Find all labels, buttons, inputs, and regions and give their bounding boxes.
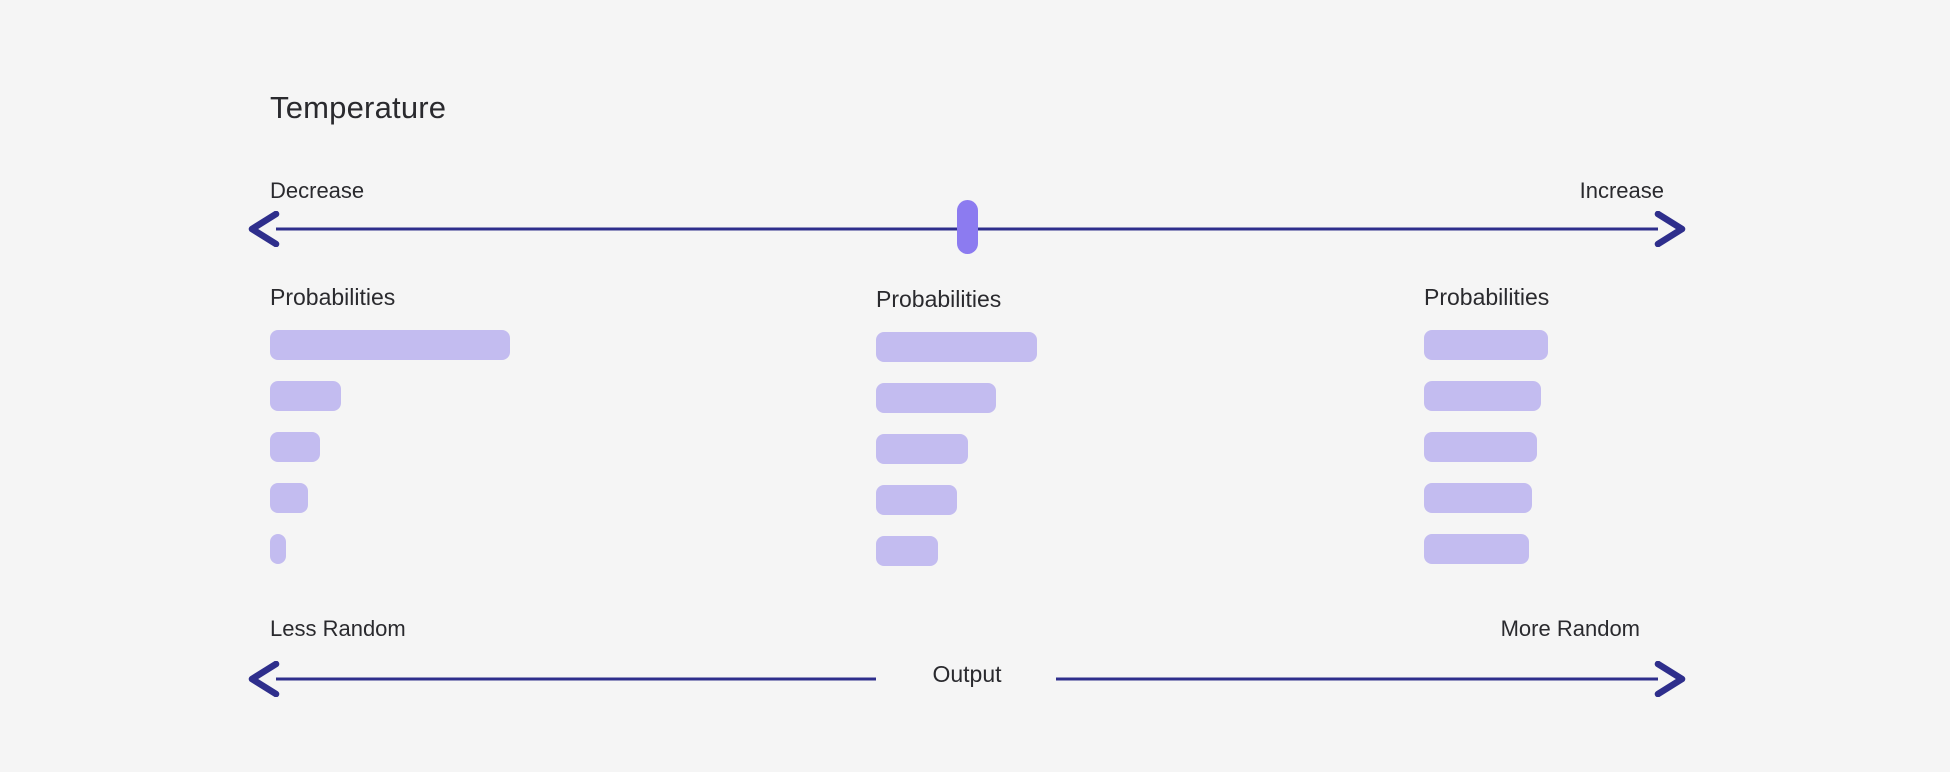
- bar-row: [876, 383, 1037, 434]
- probability-bar: [270, 483, 308, 513]
- bar-list: [270, 330, 510, 585]
- probabilities-column-medium: Probabilities: [876, 288, 1037, 587]
- bar-row: [1424, 381, 1549, 432]
- probability-bar: [876, 485, 957, 515]
- probabilities-column-low: Probabilities: [270, 286, 510, 585]
- bar-row: [1424, 483, 1549, 534]
- temperature-slider-handle[interactable]: [957, 200, 978, 254]
- probabilities-heading: Probabilities: [270, 286, 510, 309]
- probability-bar: [270, 381, 341, 411]
- bar-row: [1424, 534, 1549, 585]
- temperature-increase-label: Increase: [1580, 178, 1664, 204]
- probability-bar: [876, 332, 1037, 362]
- bar-list: [876, 332, 1037, 587]
- probability-bar: [1424, 483, 1532, 513]
- output-axis-line: [258, 664, 1676, 694]
- probabilities-heading: Probabilities: [876, 288, 1037, 311]
- probability-bar: [876, 536, 938, 566]
- output-less-random-label: Less Random: [270, 616, 406, 642]
- bar-row: [876, 332, 1037, 383]
- probabilities-column-high: Probabilities: [1424, 286, 1549, 585]
- bar-list: [1424, 330, 1549, 585]
- bar-row: [876, 536, 1037, 587]
- probability-bar: [270, 432, 320, 462]
- bar-row: [270, 381, 510, 432]
- page-title: Temperature: [270, 90, 446, 126]
- bar-row: [270, 483, 510, 534]
- probability-bar: [1424, 381, 1541, 411]
- temperature-axis: Decrease Increase: [270, 178, 1664, 258]
- probability-bar: [876, 434, 968, 464]
- bar-row: [876, 434, 1037, 485]
- probability-bar: [270, 534, 286, 564]
- output-more-random-label: More Random: [1501, 616, 1640, 642]
- temperature-decrease-label: Decrease: [270, 178, 364, 204]
- output-axis: Less Random More Random Output: [270, 616, 1664, 706]
- probability-bar: [1424, 432, 1537, 462]
- diagram-canvas: Temperature Decrease Increase Probabilit…: [0, 0, 1950, 772]
- probability-bar: [270, 330, 510, 360]
- bar-row: [270, 432, 510, 483]
- probability-bar: [1424, 330, 1548, 360]
- probability-bar: [1424, 534, 1529, 564]
- bar-row: [1424, 330, 1549, 381]
- bar-row: [270, 330, 510, 381]
- bar-row: [1424, 432, 1549, 483]
- bar-row: [876, 485, 1037, 536]
- probability-bar: [876, 383, 996, 413]
- bar-row: [270, 534, 510, 585]
- probabilities-heading: Probabilities: [1424, 286, 1549, 309]
